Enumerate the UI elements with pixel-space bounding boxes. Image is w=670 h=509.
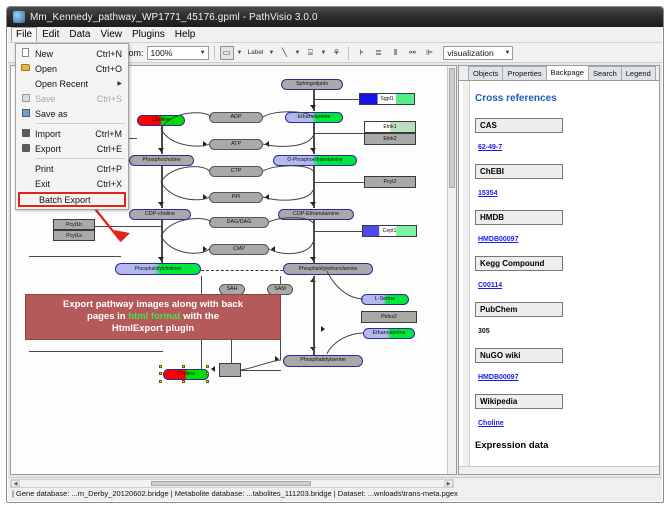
menu-item-open[interactable]: Open Ctrl+O	[16, 61, 128, 76]
export-icon	[16, 144, 35, 154]
node-o-phosphoethanolamine[interactable]: O-Phosphoethanolamine	[273, 155, 357, 166]
chevron-down-icon: ▼	[504, 50, 510, 56]
submenu-chevron-right-icon: ▶	[117, 80, 128, 87]
menu-item-import-label: Import	[35, 129, 95, 139]
arrow-icon	[158, 148, 164, 152]
gene-pcyt1a[interactable]: Pcyt1a	[53, 230, 95, 241]
arrow-icon	[275, 356, 279, 362]
node-phosphocholine[interactable]: Phosphocholine	[129, 155, 194, 166]
scroll-right-icon[interactable]: ▶	[444, 480, 453, 487]
window-title: Mm_Kennedy_pathway_WP1771_45176.gpml - P…	[30, 12, 318, 23]
line-icon[interactable]: ╲	[277, 46, 291, 60]
toolbar-separator	[214, 46, 215, 60]
arrow-icon	[265, 141, 269, 147]
menu-item-print[interactable]: Print Ctrl+P	[16, 161, 128, 176]
xref-hmdb: HMDB HMDB00097	[475, 210, 659, 246]
canvas-vertical-scrollbar[interactable]	[447, 66, 456, 474]
menu-item-export-label: Export	[35, 144, 97, 154]
menu-bar: File Edit Data View Plugins Help	[8, 27, 662, 43]
menu-item-export[interactable]: Export Ctrl+E	[16, 141, 128, 156]
menu-file[interactable]: File	[11, 27, 37, 42]
callout-highlight: html format	[128, 311, 180, 322]
app-screenshot: Mm_Kennedy_pathway_WP1771_45176.gpml - P…	[0, 0, 670, 509]
side-panel-horizontal-scrollbar[interactable]	[459, 466, 659, 474]
arrow-icon	[265, 194, 269, 200]
gene-etnk1[interactable]: Etnk1	[364, 121, 416, 133]
scroll-left-icon[interactable]: ◀	[11, 480, 20, 487]
tab-objects[interactable]: Objects	[468, 66, 503, 80]
menu-item-open-recent[interactable]: Open Recent ▶	[16, 76, 128, 91]
connector-line	[29, 351, 163, 352]
callout-line-2-pre: pages in	[87, 311, 128, 322]
align-left-icon[interactable]: ⊧	[354, 46, 368, 60]
menu-item-new-accel: Ctrl+N	[96, 49, 128, 59]
selection-handles[interactable]	[159, 365, 213, 384]
zoom-combobox[interactable]: 100% ▼	[147, 46, 209, 60]
side-panel-gutter	[463, 81, 470, 474]
menu-item-new[interactable]: New Ctrl+N	[16, 46, 128, 61]
arrow-icon	[158, 257, 164, 261]
tab-search[interactable]: Search	[588, 66, 622, 80]
xref-value-cas[interactable]: 62-49-7	[475, 144, 502, 151]
folder-icon	[16, 64, 35, 73]
menu-item-save-as-label: Save as	[35, 109, 122, 119]
node-adp[interactable]: ADP	[209, 112, 263, 123]
node-cmp[interactable]: CMP	[209, 244, 269, 255]
xref-value-chebi[interactable]: 15354	[475, 190, 497, 197]
status-text: | Gene database: ...m_Derby_20120602.bri…	[12, 489, 458, 498]
gene-chk-box[interactable]	[219, 363, 241, 377]
xref-label-chebi: ChEBI	[475, 164, 563, 179]
status-bar: ◀ ▶ | Gene database: ...m_Derby_20120602…	[8, 477, 662, 501]
node-ethanolamine-2[interactable]: Ethanolamine	[363, 328, 415, 339]
arrow-icon	[310, 105, 316, 109]
tab-properties[interactable]: Properties	[502, 66, 546, 80]
canvas-horizontal-scrollbar[interactable]: ◀ ▶	[10, 479, 454, 488]
connector-line	[313, 276, 315, 356]
datanode-icon[interactable]: ▭	[220, 46, 234, 60]
order-icon[interactable]: ⊫	[422, 46, 436, 60]
cross-references-heading: Cross references	[475, 93, 659, 104]
shape-chevron-down-icon[interactable]: ▼	[320, 50, 326, 56]
node-sphingolipids[interactable]: Sphingolipids	[281, 79, 343, 90]
toolbar-separator-2	[348, 46, 349, 60]
menu-item-batch-export[interactable]: Batch Export	[18, 192, 126, 207]
arrow-icon	[203, 194, 207, 200]
side-panel-tabstrip: Objects Properties Backpage Search Legen…	[459, 66, 659, 81]
align-center-icon[interactable]: ≣	[371, 46, 385, 60]
import-icon	[16, 129, 35, 139]
node-phosphatidylethanolamine[interactable]: Phosphatidylethanolamine	[283, 263, 373, 275]
menu-view[interactable]: View	[95, 27, 127, 42]
anchor-icon[interactable]: ⚘	[329, 46, 343, 60]
connector-line	[95, 226, 161, 227]
connector-line	[313, 99, 361, 100]
node-dag-dag[interactable]: DAG/DAG	[209, 217, 269, 228]
menu-item-import[interactable]: Import Ctrl+M	[16, 126, 128, 141]
node-phosphatidylserine[interactable]: Phosphatidylserine	[283, 355, 363, 367]
node-l-serine[interactable]: L-Serine	[361, 294, 409, 305]
arrow-icon	[310, 257, 316, 261]
menu-item-batch-export-label: Batch Export	[39, 195, 124, 205]
xref-nugo-wiki: NuGO wiki HMDB00097	[475, 348, 659, 384]
xref-kegg-compound: Kegg Compound C00114	[475, 256, 659, 292]
xref-label-cas: CAS	[475, 118, 563, 133]
menu-item-open-recent-label: Open Recent	[35, 79, 117, 89]
menu-item-save-label: Save	[35, 94, 97, 104]
distribute-icon[interactable]: ⦀	[388, 46, 402, 60]
menu-help[interactable]: Help	[170, 27, 201, 42]
xref-label-nugo-wiki: NuGO wiki	[475, 348, 563, 363]
menu-item-save-as[interactable]: Save as	[16, 106, 128, 121]
application-window: Mm_Kennedy_pathway_WP1771_45176.gpml - P…	[6, 6, 664, 503]
scrollbar-thumb[interactable]	[151, 481, 311, 486]
callout-line-2-post: with the	[180, 311, 219, 322]
gene-cept1[interactable]: Cept1	[362, 225, 417, 237]
new-page-icon	[16, 48, 35, 59]
node-phosphatidylcholines[interactable]: Phosphatidylcholines	[115, 263, 201, 275]
xref-value-wikipedia[interactable]: Choline	[475, 420, 504, 427]
node-ctp[interactable]: CTP	[209, 166, 263, 177]
label-chevron-down-icon[interactable]: ▼	[268, 50, 274, 56]
menu-item-save: Save Ctrl+S	[16, 91, 128, 106]
xref-value-nugo-wiki[interactable]: HMDB00097	[475, 374, 518, 381]
gene-pcyt2[interactable]: Pcyt2	[364, 176, 416, 188]
xref-value-kegg-compound[interactable]: C00114	[475, 282, 502, 289]
label-button[interactable]: Label	[246, 49, 266, 56]
scrollbar-thumb[interactable]	[449, 68, 455, 188]
datanode-chevron-down-icon[interactable]: ▼	[237, 50, 243, 56]
node-ppi[interactable]: PPi	[209, 192, 263, 203]
connector-line	[29, 256, 121, 257]
group-icon[interactable]: ⚯	[405, 46, 419, 60]
menu-item-save-accel: Ctrl+S	[97, 94, 128, 104]
title-bar: Mm_Kennedy_pathway_WP1771_45176.gpml - P…	[7, 7, 663, 27]
xref-cas: CAS 62-49-7	[475, 118, 659, 154]
menu-data[interactable]: Data	[64, 27, 95, 42]
menu-item-exit-label: Exit	[35, 179, 97, 189]
arrow-icon	[158, 202, 164, 206]
callout-line-1: Export pathway images along with back	[32, 299, 274, 311]
menu-item-export-accel: Ctrl+E	[97, 144, 128, 154]
line-chevron-down-icon[interactable]: ▼	[294, 50, 300, 56]
xref-label-wikipedia: Wikipedia	[475, 394, 563, 409]
arrow-icon	[310, 148, 316, 152]
menu-item-import-accel: Ctrl+M	[95, 129, 128, 139]
menu-item-open-accel: Ctrl+O	[96, 64, 128, 74]
arrow-icon	[203, 246, 207, 252]
node-choline[interactable]: Choline	[137, 115, 185, 126]
connector-line	[241, 370, 281, 371]
xref-chebi: ChEBI 15354	[475, 164, 659, 200]
node-cdp-choline[interactable]: CDP-choline	[129, 209, 191, 220]
node-cdp-ethanolamine[interactable]: CDP-Ethanolamine	[278, 209, 354, 220]
expression-data-heading: Expression data	[475, 440, 659, 451]
tab-backpage[interactable]: Backpage	[546, 65, 589, 80]
arrow-icon	[271, 246, 275, 252]
xref-label-pubchem: PubChem	[475, 302, 563, 317]
node-atp[interactable]: ATP	[209, 139, 263, 150]
menu-item-new-label: New	[35, 49, 96, 59]
menu-item-print-accel: Ctrl+P	[97, 164, 128, 174]
save-as-icon	[16, 109, 35, 119]
gene-pcyt1b[interactable]: Pcyt1b	[53, 219, 95, 230]
xref-wikipedia: Wikipedia Choline	[475, 394, 659, 430]
menu-item-exit-accel: Ctrl+X	[97, 179, 128, 189]
xref-value-pubchem: 305	[475, 328, 490, 335]
tab-legend[interactable]: Legend	[621, 66, 656, 80]
arrow-icon	[203, 141, 207, 147]
visualization-value: visualization	[447, 48, 493, 58]
menu-item-open-label: Open	[35, 64, 96, 74]
callout-line-2: pages in html format with the	[32, 311, 274, 323]
save-icon	[16, 94, 35, 104]
file-menu-dropdown[interactable]: New Ctrl+N Open Ctrl+O Open Recent ▶ Sav…	[15, 43, 129, 210]
gene-etnk2[interactable]: Etnk2	[364, 133, 416, 145]
zoom-value: 100%	[151, 48, 173, 58]
gene-sgpl1[interactable]: Sgpl1	[359, 93, 415, 105]
xref-label-hmdb: HMDB	[475, 210, 563, 225]
chevron-down-icon: ▼	[200, 50, 206, 56]
menu-item-print-label: Print	[35, 164, 97, 174]
menu-plugins[interactable]: Plugins	[127, 27, 170, 42]
shape-icon[interactable]: ⌸	[303, 46, 317, 60]
pathvisio-icon	[13, 11, 25, 23]
menu-edit[interactable]: Edit	[37, 27, 64, 42]
node-ethanolamine[interactable]: Ethanolamine	[285, 112, 343, 123]
arrow-icon	[310, 202, 316, 206]
xref-pubchem: PubChem 305	[475, 302, 659, 338]
annotation-callout: Export pathway images along with back pa…	[25, 294, 281, 340]
connector-line	[313, 133, 365, 134]
arrow-icon	[321, 326, 325, 332]
callout-line-3: HtmlExport plugin	[32, 323, 274, 335]
visualization-combobox[interactable]: visualization ▼	[443, 46, 513, 60]
side-panel: Objects Properties Backpage Search Legen…	[458, 65, 660, 475]
connector-line	[313, 231, 363, 232]
xref-value-hmdb[interactable]: HMDB00097	[475, 236, 518, 243]
xref-label-kegg-compound: Kegg Compound	[475, 256, 563, 271]
backpage-content: Cross references CAS 62-49-7 ChEBI 15354…	[459, 81, 659, 474]
menu-item-exit[interactable]: Exit Ctrl+X	[16, 176, 128, 191]
gene-ptdss2[interactable]: Ptdss2	[361, 311, 417, 323]
connector-line	[313, 182, 365, 183]
